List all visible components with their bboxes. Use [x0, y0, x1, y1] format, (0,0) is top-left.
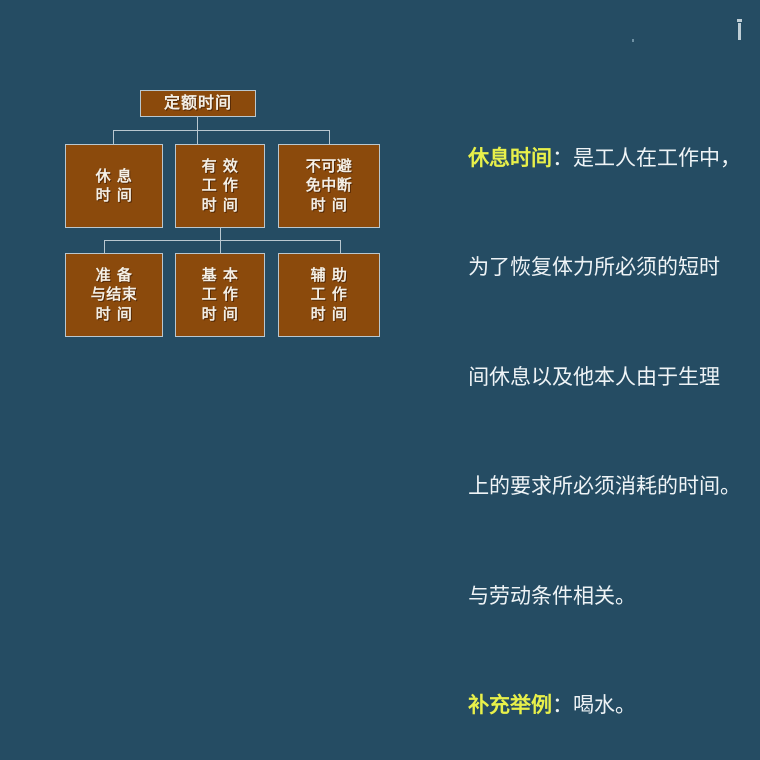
explanation-line: 为了恢复体力所必须的短时 — [428, 213, 748, 323]
connector-level2-drop-3 — [329, 130, 330, 144]
explanation-line: 补充举例：喝水。 — [428, 651, 748, 760]
explanation-term: 补充举例 — [468, 693, 552, 717]
tree-node-auxiliary-work-time[interactable]: 辅 助 工 作 时 间 — [278, 253, 380, 337]
explanation-term: 休息时间 — [468, 146, 552, 170]
connector-level2-drop-2 — [197, 130, 198, 144]
explanation-body: 上的要求所必须消耗的时间。 — [468, 474, 741, 498]
tree-node-label: 不可避 免中断 时 间 — [306, 157, 353, 216]
tree-node-label: 基 本 工 作 时 间 — [202, 266, 239, 325]
tree-node-setup-and-closing-time[interactable]: 准 备 与结束 时 间 — [65, 253, 163, 337]
explanation-body: ：是工人在工作中， — [552, 146, 741, 170]
tree-node-rest-time[interactable]: 休 息 时 间 — [65, 144, 163, 228]
connector-level3-drop-2 — [220, 240, 221, 253]
explanation-body: 与劳动条件相关。 — [468, 584, 636, 608]
connector-level3-bus — [104, 240, 341, 241]
connector-root-stem — [197, 117, 198, 131]
tree-node-label: 有 效 工 作 时 间 — [202, 157, 239, 216]
explanation-body: 间休息以及他本人由于生理 — [468, 365, 720, 389]
tree-node-label: 定额时间 — [164, 93, 232, 114]
tree-node-label: 休 息 时 间 — [96, 167, 133, 206]
tree-node-effective-work-time[interactable]: 有 效 工 作 时 间 — [175, 144, 265, 228]
connector-level3-drop-1 — [104, 240, 105, 253]
tree-node-root[interactable]: 定额时间 — [140, 90, 256, 117]
explanation-line: 休息时间：是工人在工作中， — [428, 103, 748, 213]
connector-level3-drop-3 — [340, 240, 341, 253]
connector-level2-bus — [113, 130, 329, 131]
explanation-line: 与劳动条件相关。 — [428, 541, 748, 651]
tree-node-label: 准 备 与结束 时 间 — [91, 266, 138, 325]
connector-level2-drop-1 — [113, 130, 114, 144]
tree-node-label: 辅 助 工 作 时 间 — [311, 266, 348, 325]
slide-canvas: 定额时间 休 息 时 间 有 效 工 作 时 间 不可避 免中断 时 间 准 备… — [0, 0, 760, 425]
tree-node-unavoidable-interruption-time[interactable]: 不可避 免中断 时 间 — [278, 144, 380, 228]
stray-dot-icon — [632, 39, 634, 42]
explanation-body: 为了恢复体力所必须的短时 — [468, 255, 720, 279]
tree-node-basic-work-time[interactable]: 基 本 工 作 时 间 — [175, 253, 265, 337]
explanation-line: 间休息以及他本人由于生理 — [428, 322, 748, 432]
explanation-text-block: 休息时间：是工人在工作中， 为了恢复体力所必须的短时 间休息以及他本人由于生理 … — [428, 103, 748, 760]
explanation-body: ：喝水。 — [552, 693, 636, 717]
text-cursor-icon — [738, 23, 741, 40]
explanation-line: 上的要求所必须消耗的时间。 — [428, 432, 748, 542]
